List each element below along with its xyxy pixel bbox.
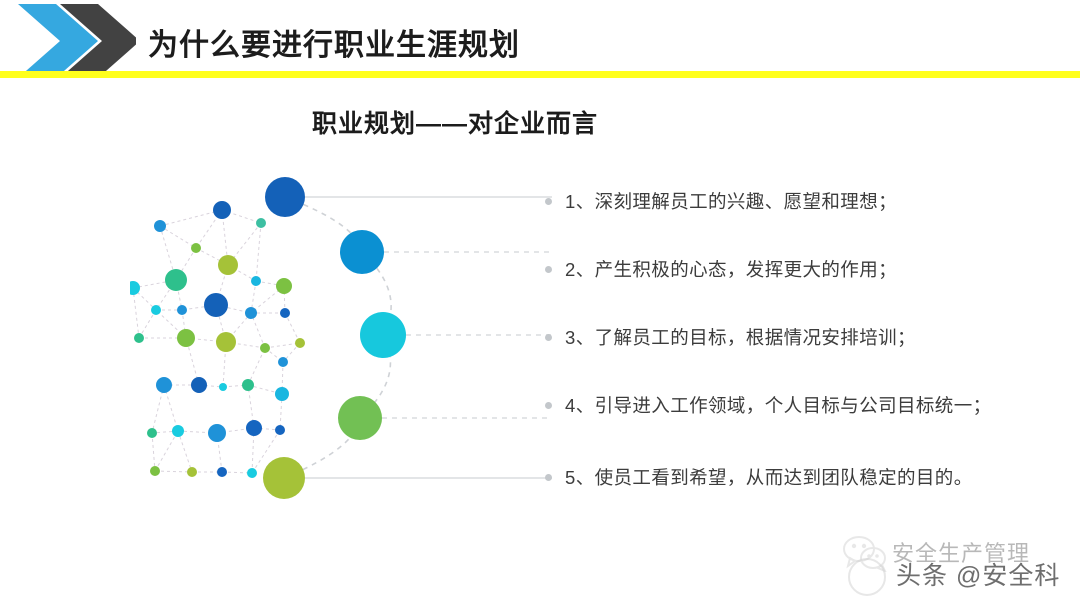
list-item-label: 3、了解员工的目标，根据情况安排培训； (565, 324, 916, 350)
network-node (187, 467, 197, 477)
list-bullet-icon (545, 474, 552, 481)
double-chevron-icon (16, 2, 136, 80)
network-node (154, 220, 166, 232)
arc-circles-group (250, 150, 580, 525)
network-node (219, 383, 227, 391)
arc-circle-4[interactable] (338, 396, 382, 440)
list-bullet-icon (545, 266, 552, 273)
network-node (208, 424, 226, 442)
network-node (172, 425, 184, 437)
network-node (218, 255, 238, 275)
list-item-label: 4、引导进入工作领域，个人目标与公司目标统一； (565, 392, 992, 418)
network-node (217, 467, 227, 477)
list-bullet-icon (545, 334, 552, 341)
list-item[interactable]: 4、引导进入工作领域，个人目标与公司目标统一； (545, 390, 1065, 420)
list-item[interactable]: 3、了解员工的目标，根据情况安排培训； (545, 322, 1065, 352)
section-subtitle-text: 职业规划——对企业而言 (312, 104, 598, 140)
network-node (191, 243, 201, 253)
list-item[interactable]: 2、产生积极的心态，发挥更大的作用； (545, 254, 1065, 284)
network-node (177, 329, 195, 347)
network-node (147, 428, 157, 438)
arc-circle-2[interactable] (340, 230, 384, 274)
network-node (216, 332, 236, 352)
slide-header: 为什么要进行职业生涯规划 (0, 0, 1080, 82)
arc-circle-1[interactable] (265, 177, 305, 217)
network-link (152, 433, 155, 471)
network-link (155, 471, 192, 472)
network-node (204, 293, 228, 317)
network-link (178, 431, 192, 472)
network-link (160, 210, 222, 226)
list-item[interactable]: 1、深刻理解员工的兴趣、愿望和理想； (545, 186, 1065, 216)
network-node (150, 466, 160, 476)
network-link (155, 431, 178, 471)
network-node (177, 305, 187, 315)
network-node (134, 333, 144, 343)
watermark: 安全生产管理 头条 @安全科 (820, 524, 1080, 608)
section-subtitle: 职业规划——对企业而言 (0, 104, 1080, 140)
list-item[interactable]: 5、使员工看到希望，从而达到团队稳定的目的。 (545, 462, 1065, 492)
list-bullet-icon (545, 402, 552, 409)
watermark-at-circle-icon (848, 558, 886, 596)
network-node (165, 269, 187, 291)
arc-circle-3[interactable] (360, 312, 406, 358)
network-link (133, 288, 139, 338)
benefits-list: 1、深刻理解员工的兴趣、愿望和理想； 2、产生积极的心态，发挥更大的作用； 3、… (545, 150, 1065, 520)
list-item-label: 1、深刻理解员工的兴趣、愿望和理想； (565, 188, 897, 214)
network-node (191, 377, 207, 393)
network-node (151, 305, 161, 315)
network-node (213, 201, 231, 219)
list-item-label: 2、产生积极的心态，发挥更大的作用； (565, 256, 897, 282)
network-node (156, 377, 172, 393)
watermark-bottom-text: 头条 @安全科 (896, 556, 1060, 592)
arc-circle-5[interactable] (263, 457, 305, 499)
list-item-label: 5、使员工看到希望，从而达到团队稳定的目的。 (565, 464, 973, 490)
list-bullet-icon (545, 198, 552, 205)
title-underline (0, 71, 1080, 78)
page-title: 为什么要进行职业生涯规划 (148, 20, 520, 64)
